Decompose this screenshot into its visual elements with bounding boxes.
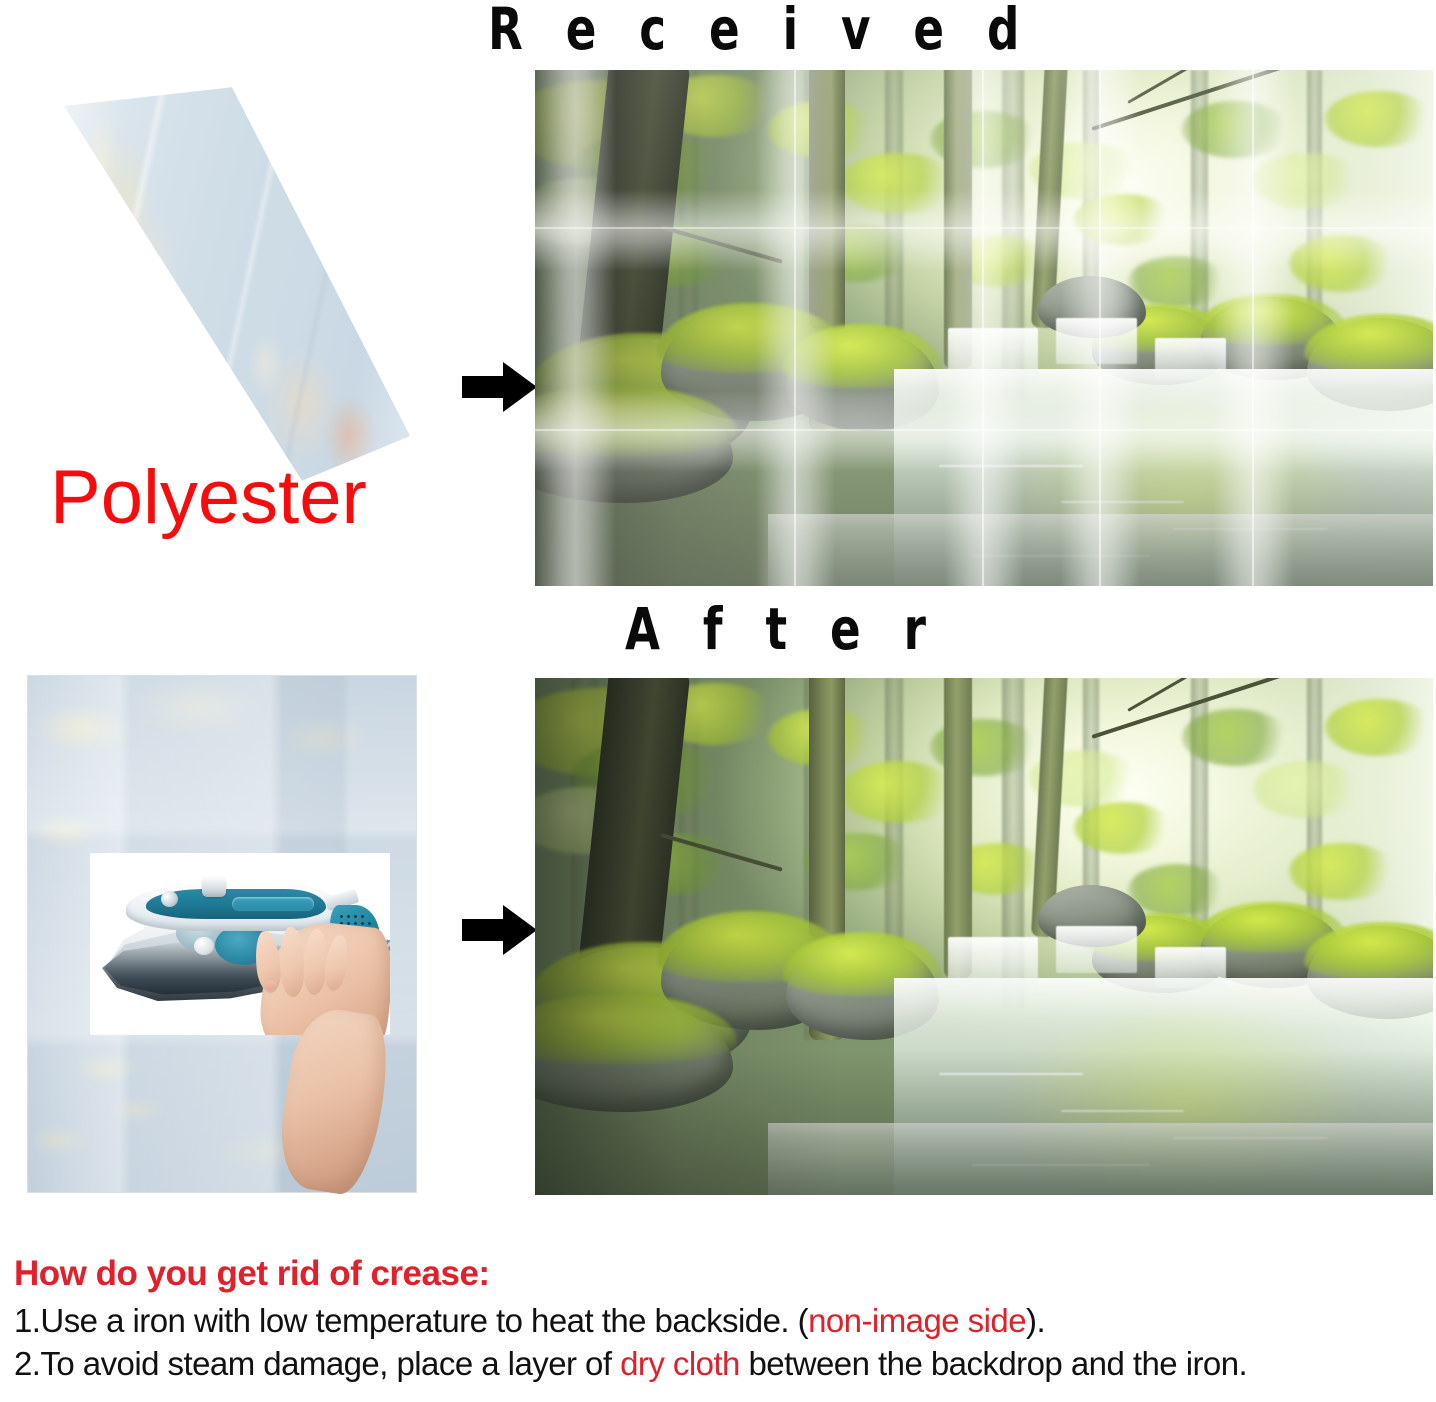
scene-vignette — [535, 70, 1433, 586]
iron-demo-photo — [90, 853, 390, 1035]
iron-steam-slider — [232, 897, 314, 911]
care-step-2: 2.To avoid steam damage, place a layer o… — [14, 1343, 1424, 1386]
care-step-1-text-a: Use a iron with low temperature to heat … — [40, 1302, 808, 1339]
care-step-2-number: 2. — [14, 1345, 40, 1382]
iron-spray-button — [194, 937, 214, 955]
care-step-2-highlight: dry cloth — [620, 1345, 740, 1382]
arrow-shaft — [462, 376, 506, 398]
care-instructions: How do you get rid of crease: 1.Use a ir… — [14, 1254, 1424, 1386]
folded-fabric-swatch — [22, 84, 422, 484]
care-step-1-text-b: ). — [1026, 1302, 1045, 1339]
material-label: Polyester — [50, 460, 367, 536]
care-heading: How do you get rid of crease: — [14, 1254, 1424, 1294]
iron-steam-knob — [202, 877, 226, 897]
care-step-2-text-b: between the backdrop and the iron. — [740, 1345, 1247, 1382]
backdrop-photo-after — [535, 678, 1433, 1195]
arrow-head — [503, 362, 537, 412]
arrow-right-icon-top — [462, 362, 538, 412]
fabric-edge-shadow — [22, 84, 422, 484]
arrow-right-icon-bottom — [462, 905, 538, 955]
care-step-1-number: 1. — [14, 1302, 40, 1339]
care-step-1: 1.Use a iron with low temperature to hea… — [14, 1300, 1424, 1343]
iron-burst-button — [161, 891, 178, 907]
scene-vignette — [535, 678, 1433, 1195]
arrow-head — [503, 905, 537, 955]
page-title-received: R e c e i v e d — [488, 0, 1033, 58]
care-step-1-highlight: non-image side — [808, 1302, 1026, 1339]
care-step-2-text-a: To avoid steam damage, place a layer of — [40, 1345, 620, 1382]
arrow-shaft — [462, 919, 506, 941]
fingernail — [264, 980, 277, 990]
page-title-after: A f t e r — [625, 600, 939, 658]
backdrop-photo-received — [535, 70, 1433, 586]
